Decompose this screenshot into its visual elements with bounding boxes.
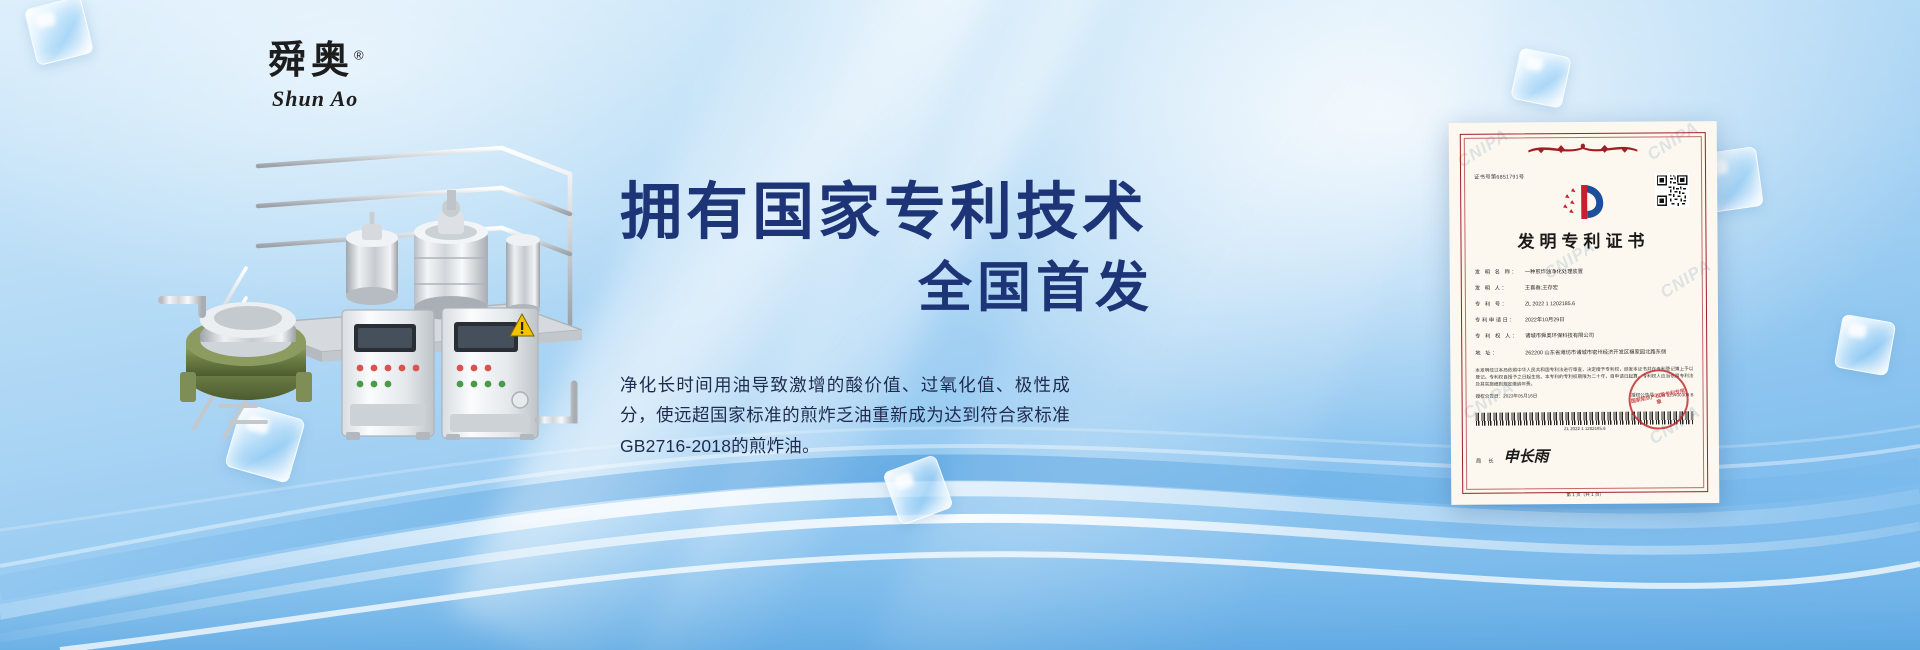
patent-certificate: CNIPA CNIPA CNIPA CNIPA CNIPA CNIPA 证书号第… [1449, 121, 1720, 505]
certificate-field-label: 专 利 权 人： [1475, 334, 1525, 341]
certificate-field-value: 王喜春;王存宏 [1525, 284, 1693, 292]
certificate-director-label: 局 长 [1476, 458, 1495, 467]
registered-trademark-icon: ® [354, 47, 369, 62]
headline-primary: 拥有国家专利技术 [620, 180, 1180, 247]
headline-secondary: 全国首发 [620, 259, 1180, 318]
certificate-field-label: 专利申请日： [1475, 318, 1525, 325]
ice-cube-upper-right [1510, 47, 1572, 109]
ice-cube-top-left [24, 0, 94, 66]
certificate-page-number: 第 1 页（共 1 页） [1476, 491, 1694, 499]
certificate-field-label: 发 明 名 称： [1475, 269, 1525, 276]
certificate-title: 发明专利证书 [1474, 226, 1692, 253]
certificate-director-signature: 申长雨 [1504, 445, 1549, 466]
certificate-field-row: 专利申请日： 2022年10月29日 [1475, 317, 1693, 325]
brand-logo-english: Shun Ao [268, 86, 388, 112]
brand-logo-chinese: 舜奥® [268, 42, 388, 80]
certificate-field-label: 发 明 人： [1475, 286, 1525, 293]
certificate-field-row: 专 利 号： ZL 2022 1 1202185.6 [1475, 300, 1693, 308]
certificate-field-value: 一种煎炸油净化处理装置 [1525, 268, 1693, 276]
certificate-field-label: 地 址： [1475, 350, 1525, 357]
certificate-grant-date: 授权公告日：2023年05月16日 [1476, 393, 1538, 399]
body-paragraph: 净化长时间用油导致激增的酸价值、过氧化值、极性成分，使远超国家标准的煎炸乏油重新… [620, 370, 1070, 460]
oil-purification-machine-illustration [150, 128, 660, 440]
cnipa-emblem [1474, 180, 1692, 226]
certificate-field-value: 诸城市舜奥环保科技有限公司 [1525, 333, 1693, 341]
certificate-field-row: 专 利 权 人： 诸城市舜奥环保科技有限公司 [1475, 333, 1693, 341]
certificate-field-value: ZL 2022 1 1202185.6 [1525, 300, 1693, 308]
certificate-field-row: 发 明 名 称： 一种煎炸油净化处理装置 [1475, 268, 1693, 276]
certificate-body: 证书号第6851791号 [1460, 132, 1709, 494]
certificate-field-value: 2022年10月29日 [1525, 317, 1693, 325]
certificate-field-value: 262200 山东省潍坊市诸城市密州经济开发区福家园北路东侧 [1525, 349, 1693, 357]
ice-cube-far-right [1834, 314, 1897, 377]
certificate-seal-text: 国家知识产权局专利专用章 [1630, 388, 1687, 412]
certificate-field-row: 发 明 人： 王喜春;王存宏 [1475, 284, 1693, 292]
brand-logo-chinese-text: 舜奥 [268, 40, 354, 82]
certificate-signature-block: 局 长 申长雨 [1476, 444, 1694, 467]
cnipa-logo-icon [1559, 181, 1607, 221]
promo-banner: 舜奥® Shun Ao [0, 0, 1920, 650]
certificate-field-list: 发 明 名 称： 一种煎炸油净化处理装置 发 明 人： 王喜春;王存宏 专 利 … [1475, 268, 1694, 357]
certificate-field-label: 专 利 号： [1475, 302, 1525, 309]
certificate-field-row: 地 址： 262200 山东省潍坊市诸城市密州经济开发区福家园北路东侧 [1475, 349, 1693, 357]
certificate-ornament-icon [1474, 141, 1692, 157]
brand-logo: 舜奥® Shun Ao [268, 42, 388, 118]
headline-copy-block: 拥有国家专利技术 全国首发 净化长时间用油导致激增的酸价值、过氧化值、极性成分，… [620, 180, 1180, 461]
